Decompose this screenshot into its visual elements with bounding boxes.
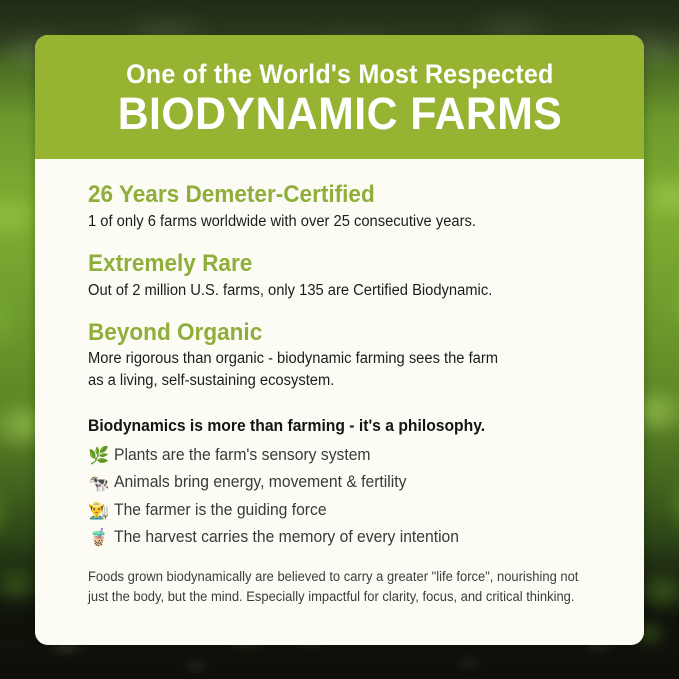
glass-of-greens-icon: 🧋 — [88, 529, 114, 546]
section-body-line: More rigorous than organic - biodynamic … — [88, 348, 584, 370]
list-item: 🧋 The harvest carries the memory of ever… — [88, 527, 610, 548]
section-demeter-certified: 26 Years Demeter-Certified 1 of only 6 f… — [88, 181, 610, 233]
section-body-line: 1 of only 6 farms worldwide with over 25… — [88, 211, 584, 233]
card-body: 26 Years Demeter-Certified 1 of only 6 f… — [35, 159, 644, 645]
list-item: 🐄 Animals bring energy, movement & ferti… — [88, 472, 610, 493]
section-title: Extremely Rare — [88, 250, 579, 278]
philosophy-block: Biodynamics is more than farming - it's … — [88, 416, 610, 554]
list-item: 🌿 Plants are the farm's sensory system — [88, 445, 610, 466]
farmer-icon: 👨‍🌾 — [88, 502, 114, 519]
header-banner: One of the World's Most Respected BIODYN… — [35, 35, 644, 159]
section-body-line: as a living, self-sustaining ecosystem. — [88, 370, 584, 392]
section-body-line: Out of 2 million U.S. farms, only 135 ar… — [88, 280, 584, 302]
footnote-line: Foods grown biodynamically are believed … — [88, 567, 589, 587]
header-subtitle: One of the World's Most Respected — [126, 60, 553, 88]
infographic-card: One of the World's Most Respected BIODYN… — [35, 35, 644, 645]
list-item-label: Animals bring energy, movement & fertili… — [114, 472, 406, 493]
section-title: Beyond Organic — [88, 319, 579, 347]
section-body: Out of 2 million U.S. farms, only 135 ar… — [88, 280, 584, 302]
list-item-label: Plants are the farm's sensory system — [114, 445, 371, 466]
section-title: 26 Years Demeter-Certified — [88, 181, 579, 209]
section-body: More rigorous than organic - biodynamic … — [88, 348, 584, 392]
section-extremely-rare: Extremely Rare Out of 2 million U.S. far… — [88, 250, 610, 302]
footnote-line: just the body, but the mind. Especially … — [88, 587, 589, 607]
section-body: 1 of only 6 farms worldwide with over 25… — [88, 211, 584, 233]
philosophy-title: Biodynamics is more than farming - it's … — [88, 416, 584, 437]
list-item-label: The farmer is the guiding force — [114, 500, 327, 521]
list-item-label: The harvest carries the memory of every … — [114, 527, 459, 548]
footnote: Foods grown biodynamically are believed … — [88, 567, 589, 608]
list-item: 👨‍🌾 The farmer is the guiding force — [88, 500, 610, 521]
header-title: BIODYNAMIC FARMS — [117, 90, 562, 139]
section-beyond-organic: Beyond Organic More rigorous than organi… — [88, 319, 610, 393]
philosophy-list: 🌿 Plants are the farm's sensory system 🐄… — [88, 445, 610, 549]
herb-icon: 🌿 — [88, 447, 114, 464]
cow-icon: 🐄 — [88, 475, 114, 492]
